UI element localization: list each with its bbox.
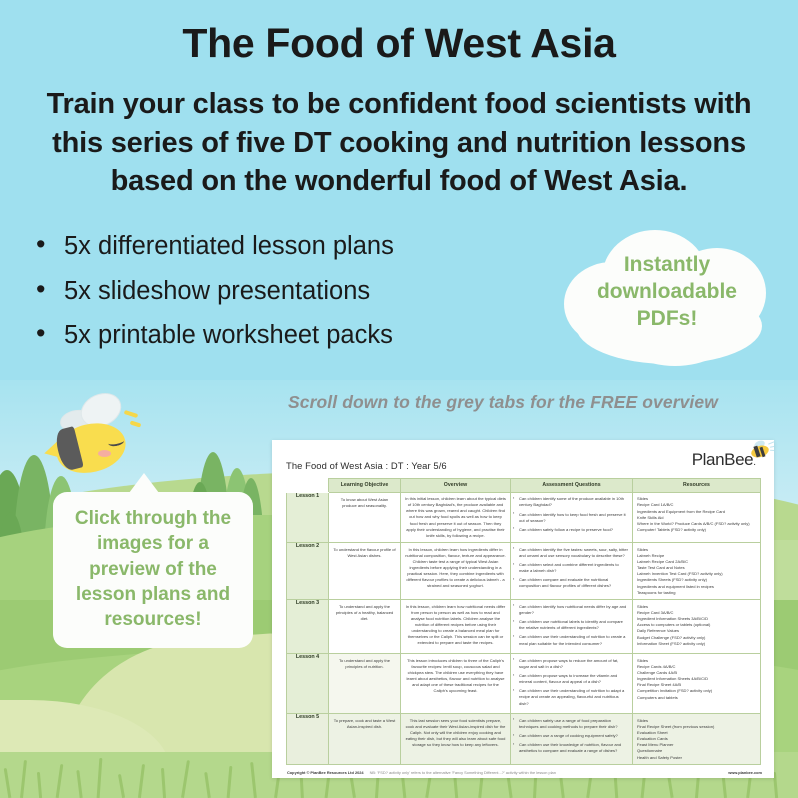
page-subtitle: Train your class to be confident food sc… [20, 85, 778, 201]
resource-item: Teaspoons for tasting [637, 590, 756, 596]
question-item: Can children propose ways to reduce the … [513, 658, 629, 670]
lesson-overview: This lesson introduces children to three… [401, 654, 511, 714]
question-item: Can children use their understanding of … [513, 688, 629, 706]
list-item: 5x printable worksheet packs [34, 323, 504, 349]
lesson-label: Lesson 3 [287, 600, 329, 654]
table-row: Lesson 5 To prepare, cook and taste a We… [287, 714, 761, 765]
lesson-resources: Slides Recipe Card 3A/B/C Ingredient Inf… [633, 600, 761, 654]
question-item: Can children safely use a range of food … [513, 718, 629, 730]
lesson-questions: Can children safely use a range of food … [511, 714, 633, 765]
lesson-overview: This last session sees your food scienti… [401, 714, 511, 765]
question-item: Can children identify the five tastes: s… [513, 547, 629, 559]
cloud-line-2: downloadable [556, 279, 778, 306]
lesson-questions: Can children identify the five tastes: s… [511, 543, 633, 600]
cloud-badge: Instantly downloadable PDFs! [556, 222, 778, 368]
table-row: Lesson 1 To know about West Asian produc… [287, 492, 761, 542]
lesson-resources: Slides Recipe Card 1A/B/C Ingredients an… [633, 492, 761, 542]
list-item: 5x differentiated lesson plans [34, 234, 504, 260]
lesson-questions: Can children identify how nutritional ne… [511, 600, 633, 654]
question-item: Can children identify how nutritional ne… [513, 604, 629, 616]
resource-item: Computer/ Tablets (FSD? activity only) [637, 527, 756, 533]
question-item: Can children use their knowledge of nutr… [513, 742, 629, 754]
page-title: The Food of West Asia [0, 20, 798, 67]
question-item: Can children propose ways to increase th… [513, 673, 629, 685]
question-item: Can children safely follow a recipe to p… [513, 527, 629, 533]
table-row: Lesson 4 To understand and apply the pri… [287, 654, 761, 714]
lesson-overview: In this initial lesson, children learn a… [401, 492, 511, 542]
lesson-overview-table: Learning Objective Overview Assessment Q… [286, 478, 761, 765]
lesson-label: Lesson 4 [287, 654, 329, 714]
cloud-line-1: Instantly [556, 252, 778, 279]
document-footer: Copyright © PlanBee Resources Ltd 2024 N… [286, 770, 762, 775]
planbee-logo: PlanBee. [692, 450, 762, 470]
table-row: Lesson 2 To understand the flavour profi… [287, 543, 761, 600]
lesson-label: Lesson 5 [287, 714, 329, 765]
footer-note: NB: 'FSD? activity only' refers to the a… [370, 770, 723, 775]
lesson-objective: To prepare, cook and taste a West Asian-… [329, 714, 401, 765]
question-item: Can children use a range of cooking equi… [513, 733, 629, 739]
question-item: Can children identify some of the produc… [513, 496, 629, 508]
list-item: 5x slideshow presentations [34, 279, 504, 305]
bee-icon [36, 392, 146, 482]
resource-item: Health and Safety Poster [637, 755, 756, 761]
lesson-objective: To understand and apply the principles o… [329, 654, 401, 714]
lesson-resources: Slides Labneh Recipe Labneh Recipe Card … [633, 543, 761, 600]
scroll-hint-text: Scroll down to the grey tabs for the FRE… [288, 392, 788, 413]
question-item: Can children use nutritional labels to i… [513, 619, 629, 631]
col-header-assessment-questions: Assessment Questions [511, 479, 633, 493]
lesson-objective: To understand and apply the principles o… [329, 600, 401, 654]
lesson-label: Lesson 1 [287, 492, 329, 542]
lesson-questions: Can children propose ways to reduce the … [511, 654, 633, 714]
lesson-objective: To know about West Asian produce and sea… [329, 492, 401, 542]
brand-bee-icon [746, 441, 772, 459]
website-url: www.planbee.com [728, 770, 762, 775]
lesson-questions: Can children identify some of the produc… [511, 492, 633, 542]
document-preview[interactable]: The Food of West Asia : DT : Year 5/6 Pl… [272, 440, 774, 778]
resource-item: Information Sheet (FSD? activity only) [637, 641, 756, 647]
preview-callout: Click through the images for a preview o… [53, 492, 253, 648]
col-header-overview: Overview [401, 479, 511, 493]
question-item: Can children select and combine differen… [513, 562, 629, 574]
cloud-line-3: PDFs! [556, 306, 778, 333]
table-row: Lesson 3 To understand and apply the pri… [287, 600, 761, 654]
lesson-overview: In this lesson, children learn how nutri… [401, 600, 511, 654]
col-header-resources: Resources [633, 479, 761, 493]
question-item: Can children identify how to keep food f… [513, 512, 629, 524]
col-header-learning-objective: Learning Objective [329, 479, 401, 493]
lesson-overview: In this lesson, children learn how ingre… [401, 543, 511, 600]
motion-line-icon [130, 420, 142, 427]
copyright-text: Copyright © PlanBee Resources Ltd 2024 [287, 770, 364, 775]
feature-list: 5x differentiated lesson plans 5x slides… [34, 234, 504, 368]
document-title: The Food of West Asia : DT : Year 5/6 [286, 450, 447, 471]
lesson-objective: To understand the flavour profile of Wes… [329, 543, 401, 600]
lesson-resources: Slides Final Recipe Sheet (from previous… [633, 714, 761, 765]
question-item: Can children compare and evaluate the nu… [513, 577, 629, 589]
bee-cheek [98, 450, 111, 457]
resource-item: Computers and tablets [637, 695, 756, 701]
cloud-badge-text: Instantly downloadable PDFs! [556, 252, 778, 333]
motion-line-icon [124, 410, 139, 418]
col-header-blank [287, 479, 329, 493]
brand-wordmark: PlanBee [692, 450, 753, 469]
promo-graphic: The Food of West Asia Train your class t… [0, 0, 798, 798]
question-item: Can children use their understanding of … [513, 634, 629, 646]
lesson-resources: Slides Recipe Cards 4A/B/C Challenge Car… [633, 654, 761, 714]
document-header: The Food of West Asia : DT : Year 5/6 Pl… [286, 450, 762, 471]
lesson-label: Lesson 2 [287, 543, 329, 600]
table-header-row: Learning Objective Overview Assessment Q… [287, 479, 761, 493]
